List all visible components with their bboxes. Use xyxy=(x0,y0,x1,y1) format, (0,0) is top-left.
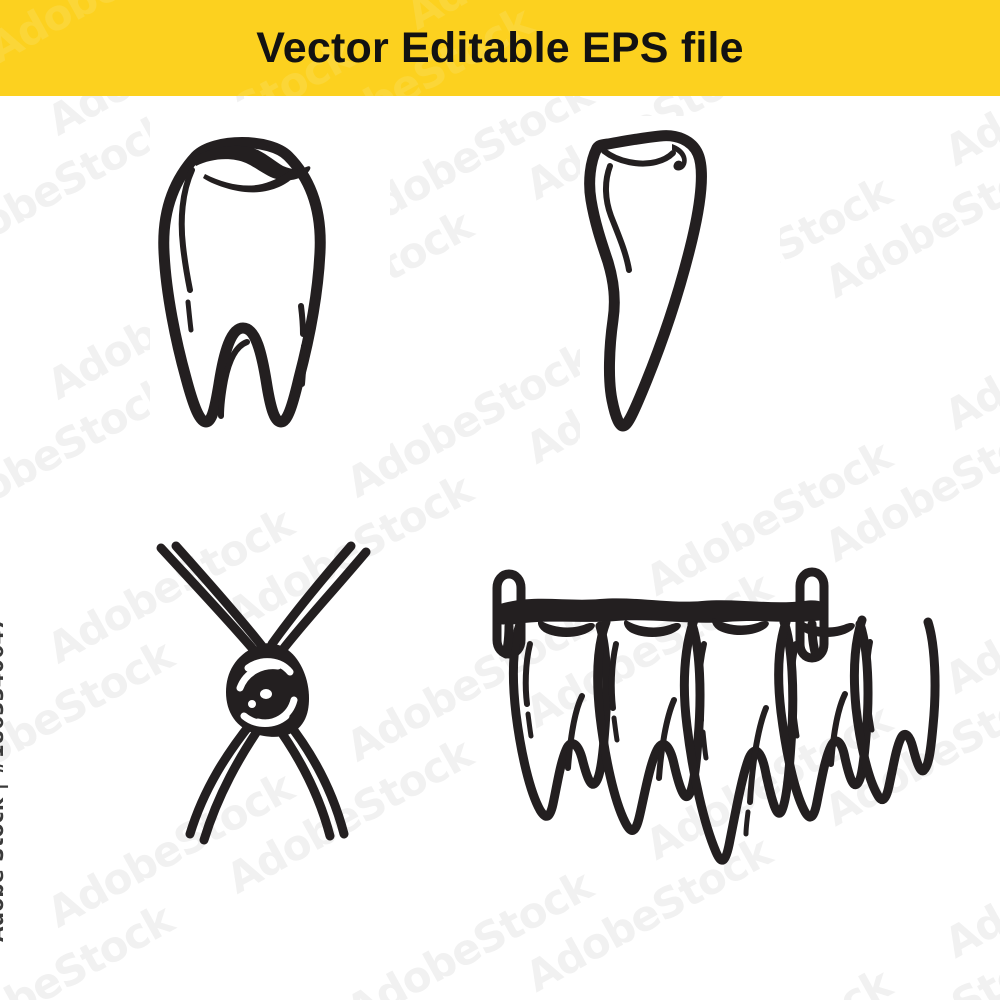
denture-bridge-icon xyxy=(493,572,935,860)
canine-tooth-icon xyxy=(580,116,780,456)
stock-credit-label: Adobe Stock | #1863340647 xyxy=(0,616,8,942)
screenshot-canvas: AdobeStockAdobeStockAdobeStockAdobeStock… xyxy=(0,0,1000,1000)
dental-floss-knot-icon xyxy=(161,546,366,840)
molar-tooth-shape xyxy=(150,116,390,456)
artwork-area xyxy=(0,96,1000,1000)
page-title: Vector Editable EPS file xyxy=(0,0,1000,96)
